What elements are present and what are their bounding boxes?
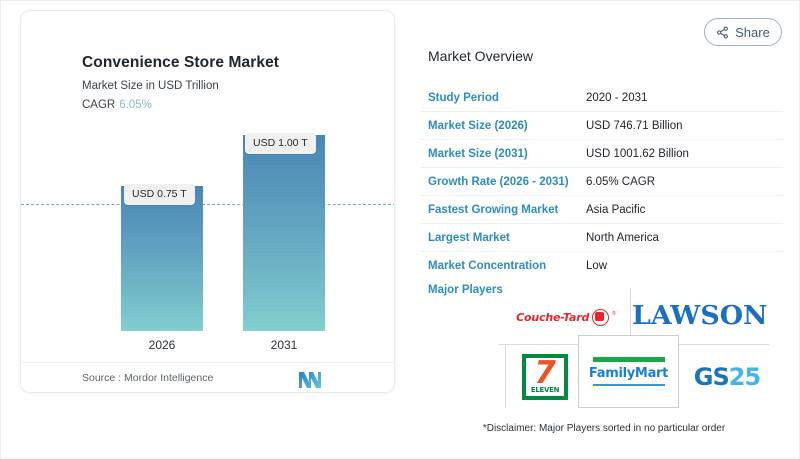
trademark-icon: ®: [612, 311, 616, 317]
chart-card: Convenience Store Market Market Size in …: [20, 10, 395, 393]
seven-eleven-mark: 7 ELEVEN: [522, 354, 568, 400]
logo-lawson: LAWSON: [635, 294, 765, 338]
major-players-logo-grid: Couche-Tard ® LAWSON 7 ELEVEN FamilyMart: [499, 288, 769, 408]
major-players-label: Major Players: [428, 284, 503, 296]
row-label: Growth Rate (2026 - 2031): [420, 176, 586, 188]
logo-couche-tard: Couche-Tard ®: [507, 296, 625, 338]
chart-title: Convenience Store Market: [82, 54, 279, 72]
table-row: Study Period 2020 - 2031: [420, 84, 783, 112]
mordor-intelligence-logo: [299, 372, 321, 388]
x-axis-tick-2026: 2026: [121, 338, 203, 352]
familymart-blue-bar-icon: [593, 384, 665, 386]
chart-cagr: CAGR6.05%: [82, 99, 152, 111]
grid-divider: [505, 346, 506, 408]
row-label: Market Size (2031): [420, 148, 586, 160]
row-value: Asia Pacific: [586, 204, 645, 216]
logo-lawson-text: LAWSON: [632, 301, 768, 331]
logo-7-eleven-word: ELEVEN: [526, 386, 564, 394]
logo-7-eleven-numeral: 7: [534, 358, 556, 388]
chart-subtitle: Market Size in USD Trillion: [82, 80, 219, 92]
logo-gs25: GS25: [685, 350, 769, 404]
bar-label-2026: USD 0.75 T: [124, 184, 195, 205]
bar-2031[interactable]: [243, 135, 325, 331]
bar-2026[interactable]: [121, 186, 203, 331]
couche-tard-owl-icon: [592, 309, 609, 326]
table-row: Fastest Growing Market Asia Pacific: [420, 196, 783, 224]
row-value: North America: [586, 232, 659, 244]
reference-dashed-line: [21, 204, 395, 205]
row-value: Low: [586, 260, 607, 272]
logo-gs25-text-a: GS: [694, 363, 729, 391]
logo-familymart-text: FamilyMart: [589, 366, 668, 381]
familymart-green-bar-icon: [593, 357, 665, 362]
row-label: Study Period: [420, 92, 586, 104]
table-row: Market Concentration Low: [420, 252, 783, 279]
share-button[interactable]: Share: [704, 18, 782, 46]
share-icon: [716, 26, 729, 39]
table-row: Market Size (2026) USD 746.71 Billion: [420, 112, 783, 140]
bar-label-2031: USD 1.00 T: [245, 133, 316, 154]
page-root: Share Convenience Store Market Market Si…: [0, 0, 800, 459]
table-row: Growth Rate (2026 - 2031) 6.05% CAGR: [420, 168, 783, 196]
table-row: Market Size (2031) USD 1001.62 Billion: [420, 140, 783, 168]
row-label: Largest Market: [420, 232, 586, 244]
market-overview-title: Market Overview: [428, 48, 533, 64]
row-label: Market Concentration: [420, 260, 586, 272]
row-label: Market Size (2026): [420, 120, 586, 132]
market-overview-table: Study Period 2020 - 2031 Market Size (20…: [420, 84, 783, 279]
disclaimer-text: *Disclaimer: Major Players sorted in no …: [429, 423, 779, 434]
logo-7-eleven: 7 ELEVEN: [517, 350, 573, 404]
logo-couche-tard-text: Couche-Tard: [516, 311, 589, 324]
row-value: USD 746.71 Billion: [586, 120, 683, 132]
row-label: Fastest Growing Market: [420, 204, 586, 216]
logo-familymart: FamilyMart: [578, 335, 679, 408]
x-axis-tick-2031: 2031: [243, 338, 325, 352]
logo-gs25-text-b: 25: [729, 363, 760, 391]
row-value: 6.05% CAGR: [586, 176, 655, 188]
source-text: Source : Mordor Intelligence: [82, 372, 213, 384]
row-value: 2020 - 2031: [586, 92, 647, 104]
row-value: USD 1001.62 Billion: [586, 148, 689, 160]
cagr-value: 6.05%: [119, 99, 152, 111]
table-row: Largest Market North America: [420, 224, 783, 252]
cagr-label: CAGR: [82, 99, 115, 111]
share-button-label: Share: [735, 25, 770, 40]
bar-chart-plot-area: USD 0.75 T USD 1.00 T 2026 2031: [21, 116, 395, 351]
